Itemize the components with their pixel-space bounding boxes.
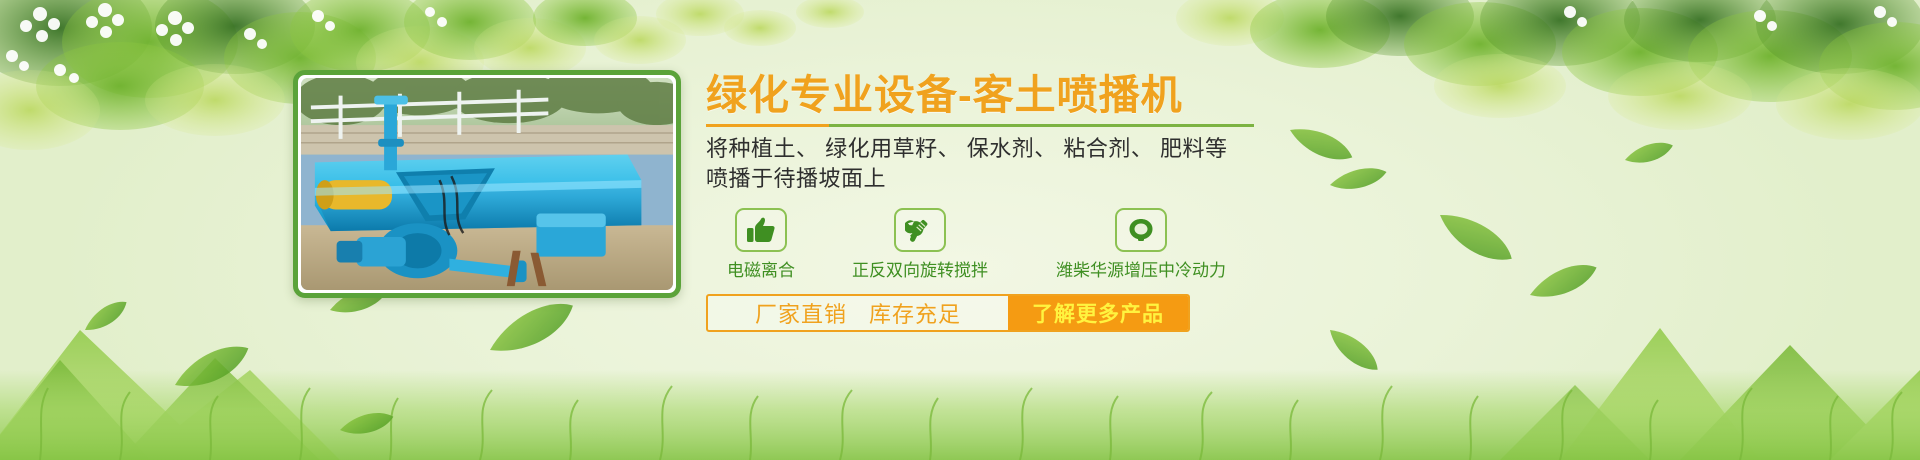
banner-content: 绿化专业设备-客土喷播机 将种植土、 绿化用草籽、 保水剂、 粘合剂、 肥料等 …	[706, 70, 1486, 332]
title-divider	[706, 124, 1254, 127]
page-title: 绿化专业设备-客土喷播机	[706, 70, 1486, 120]
promo-banner: 绿化专业设备-客土喷播机 将种植土、 绿化用草籽、 保水剂、 粘合剂、 肥料等 …	[0, 0, 1920, 460]
feature-item-weichai-engine: 潍柴华源增压中冷动力	[1026, 208, 1256, 282]
grass-decoration	[0, 340, 1920, 460]
subtitle-line-1: 将种植土、 绿化用草籽、 保水剂、 粘合剂、 肥料等	[706, 134, 1486, 164]
feature-label: 潍柴华源增压中冷动力	[1056, 260, 1226, 282]
feature-item-electromagnetic-clutch: 电磁离合	[706, 208, 816, 282]
feature-list: 电磁离合	[706, 208, 1486, 282]
thumbs-up-icon	[735, 208, 787, 252]
cta-slogan: 厂家直销 库存充足	[708, 296, 1008, 330]
product-photo-frame	[293, 70, 681, 298]
feature-label: 电磁离合	[727, 260, 795, 282]
subtitle-line-2: 喷播于待播坡面上	[706, 164, 1486, 194]
cta-slogan-left: 厂家直销	[755, 297, 847, 329]
engine-icon	[1115, 208, 1167, 252]
feature-label: 正反双向旋转搅拌	[852, 260, 988, 282]
feature-item-bidirectional-mixing: 正反双向旋转搅拌	[820, 208, 1020, 282]
wrench-screwdriver-icon	[894, 208, 946, 252]
cta-bar: 厂家直销 库存充足 了解更多产品	[706, 294, 1190, 332]
cta-slogan-right: 库存充足	[869, 297, 961, 329]
learn-more-button[interactable]: 了解更多产品	[1008, 296, 1188, 330]
product-photo	[301, 78, 673, 290]
